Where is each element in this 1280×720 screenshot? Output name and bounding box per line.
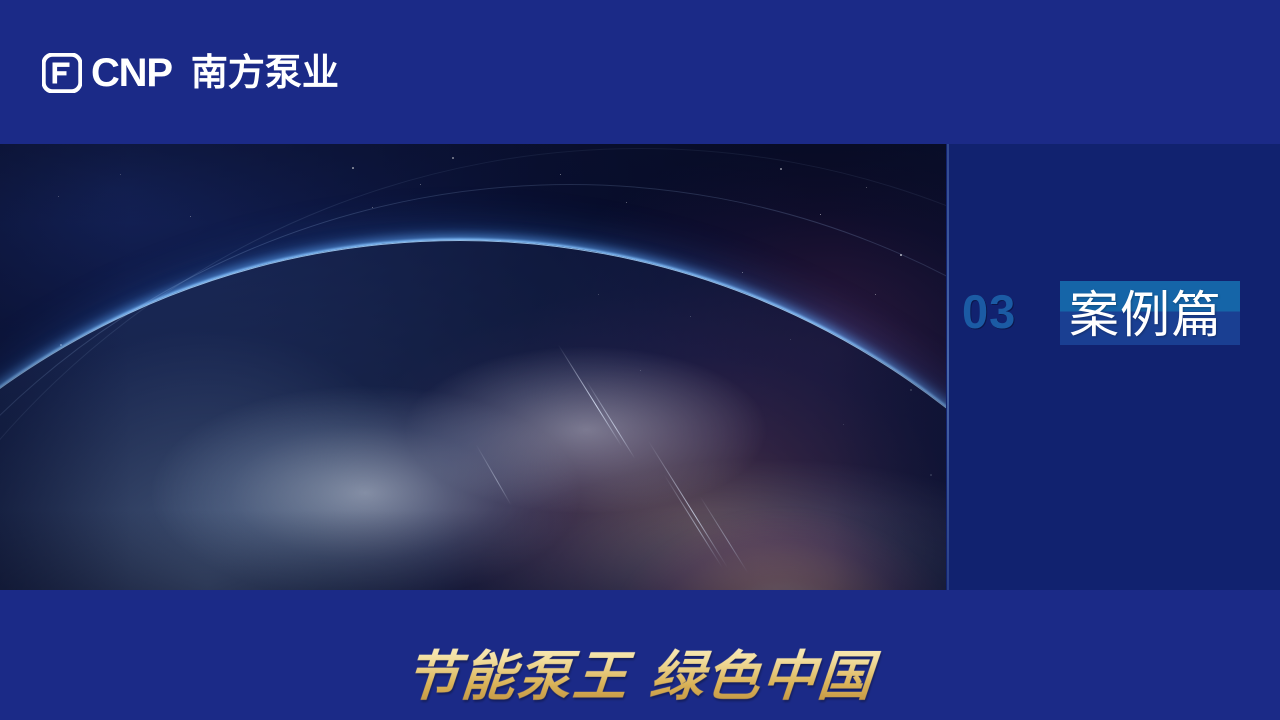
earth-from-space-photo	[0, 144, 946, 590]
chapter-panel	[946, 144, 1280, 590]
chapter-title: 案例篇	[1069, 283, 1222, 347]
slide-header: CNP 南方泵业	[0, 0, 1280, 144]
slide-root: CNP 南方泵业	[0, 0, 1280, 720]
chapter-number: 03	[962, 288, 1016, 335]
image-vignette	[0, 144, 946, 590]
cnp-monogram-icon	[42, 53, 82, 93]
logo-chinese-text: 南方泵业	[191, 53, 339, 93]
logo-latin-text: CNP	[91, 53, 172, 93]
company-slogan: 节能泵王 绿色中国	[0, 632, 1280, 711]
panel-divider	[947, 144, 949, 590]
company-logo: CNP 南方泵业	[42, 50, 339, 96]
